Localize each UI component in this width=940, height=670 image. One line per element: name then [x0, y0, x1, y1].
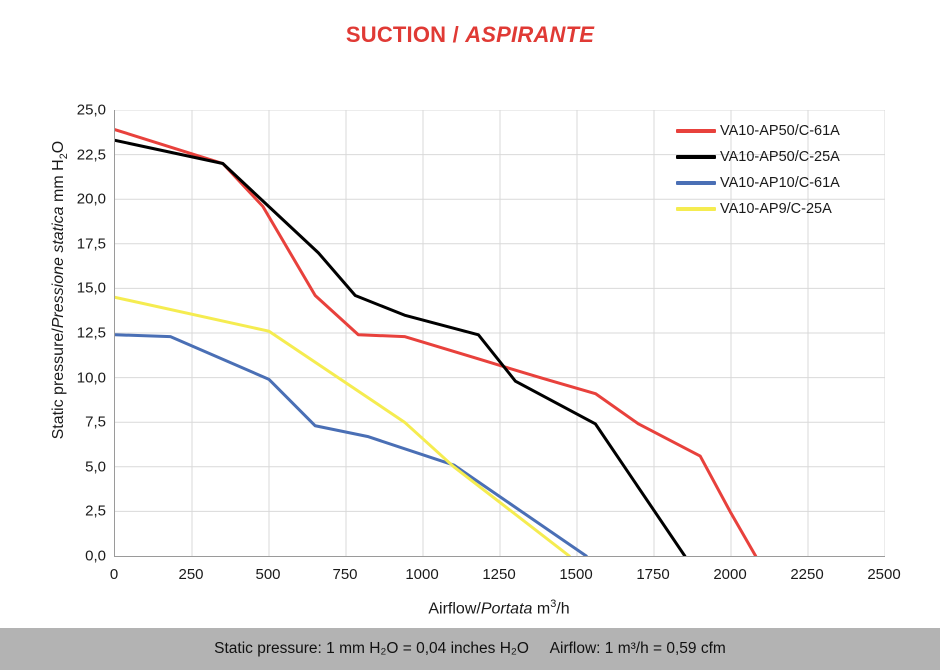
page-title: SUCTION / ASPIRANTE	[0, 22, 940, 48]
legend-item[interactable]: VA10-AP50/C-25A	[676, 144, 926, 170]
title-part-aspirante: ASPIRANTE	[465, 22, 594, 47]
legend-item[interactable]: VA10-AP9/C-25A	[676, 196, 926, 222]
x-axis-title-en: Airflow/	[428, 600, 480, 617]
y-axis-title: Static pressure/Pressione statica mm H2O	[50, 80, 70, 500]
y-axis-title-unit2: O	[50, 141, 67, 153]
x-tick-label: 500	[228, 566, 308, 583]
y-tick-label: 2,5	[46, 503, 106, 520]
x-axis-title-unit2: /h	[556, 600, 569, 617]
y-axis-title-sub: 2	[58, 153, 70, 159]
legend-color-swatch	[676, 207, 716, 211]
x-tick-label: 1750	[613, 566, 693, 583]
series-line-va10-ap9-c-25a	[115, 297, 569, 556]
legend-item-label: VA10-AP10/C-61A	[720, 175, 840, 191]
y-axis-title-it: Pressione statica	[50, 206, 67, 328]
x-tick-label: 2500	[844, 566, 924, 583]
x-tick-label: 2000	[690, 566, 770, 583]
x-tick-label: 1000	[382, 566, 462, 583]
x-axis-title-unit: m	[532, 600, 550, 617]
legend-color-swatch	[676, 129, 716, 133]
footer-bar: Static pressure: 1 mm H₂O = 0,04 inches …	[0, 628, 940, 670]
y-axis-title-en: Static pressure/	[50, 328, 67, 439]
x-axis-title-it: Portata	[481, 600, 533, 617]
x-tick-label: 250	[151, 566, 231, 583]
conversion-note: Static pressure: 1 mm H₂O = 0,04 inches …	[214, 640, 726, 658]
legend-color-swatch	[676, 155, 716, 159]
title-part-suction: SUCTION /	[346, 22, 465, 47]
legend-color-swatch	[676, 181, 716, 185]
x-axis-tick-labels: 02505007501000125015001750200022502500	[114, 566, 884, 590]
legend-item[interactable]: VA10-AP50/C-61A	[676, 118, 926, 144]
x-tick-label: 1500	[536, 566, 616, 583]
x-tick-label: 750	[305, 566, 385, 583]
x-tick-label: 0	[74, 566, 154, 583]
chart-page: SUCTION / ASPIRANTE 0,02,55,07,510,012,5…	[0, 0, 940, 670]
series-line-va10-ap10-c-61a	[115, 335, 586, 556]
chart-legend: VA10-AP50/C-61AVA10-AP50/C-25AVA10-AP10/…	[676, 118, 926, 222]
legend-item-label: VA10-AP9/C-25A	[720, 201, 832, 217]
x-axis-title: Airflow/Portata m3/h	[114, 598, 884, 618]
y-tick-label: 0,0	[46, 548, 106, 565]
legend-item[interactable]: VA10-AP10/C-61A	[676, 170, 926, 196]
series-line-va10-ap50-c-61a	[115, 130, 756, 556]
x-tick-label: 2250	[767, 566, 847, 583]
legend-item-label: VA10-AP50/C-25A	[720, 149, 840, 165]
legend-item-label: VA10-AP50/C-61A	[720, 123, 840, 139]
y-axis-title-unit: mm H	[50, 159, 67, 206]
x-tick-label: 1250	[459, 566, 539, 583]
